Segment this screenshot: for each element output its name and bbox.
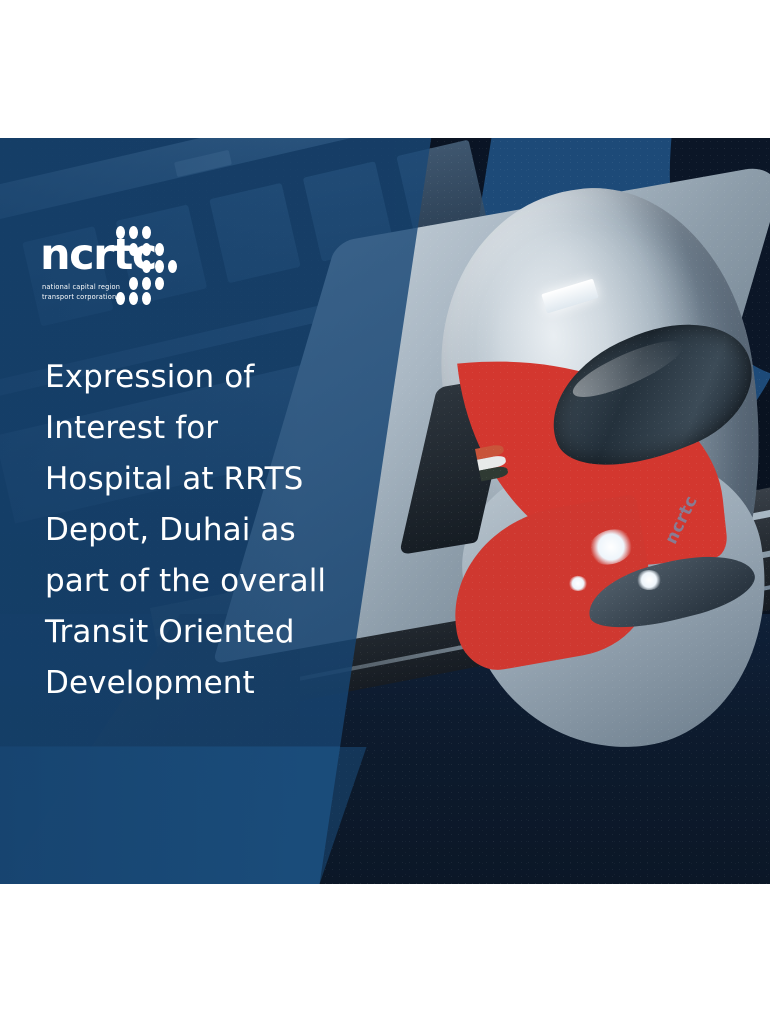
ncrtc-logo: ncrtc national capital region transport … [40, 226, 200, 306]
arrow-dot-matrix-icon [116, 226, 200, 304]
logo-tagline-line2: transport corporation [42, 292, 120, 302]
logo-tagline: national capital region transport corpor… [42, 282, 120, 302]
headline-line: Depot, Duhai as [45, 505, 345, 556]
headline-block: Expression of Interest for Hospital at R… [45, 352, 345, 709]
logo-tagline-line1: national capital region [42, 282, 120, 292]
headline-line: Expression of [45, 352, 345, 403]
headline-line: part of the overall [45, 556, 345, 607]
cover-banner: ncrtc ncrtc national capital region tran… [0, 138, 770, 884]
headline-line: Hospital at RRTS [45, 454, 345, 505]
headline-line: Interest for [45, 403, 345, 454]
page-root: ncrtc ncrtc national capital region tran… [0, 0, 770, 1024]
headline-line: Development [45, 658, 345, 709]
headline-line: Transit Oriented [45, 607, 345, 658]
